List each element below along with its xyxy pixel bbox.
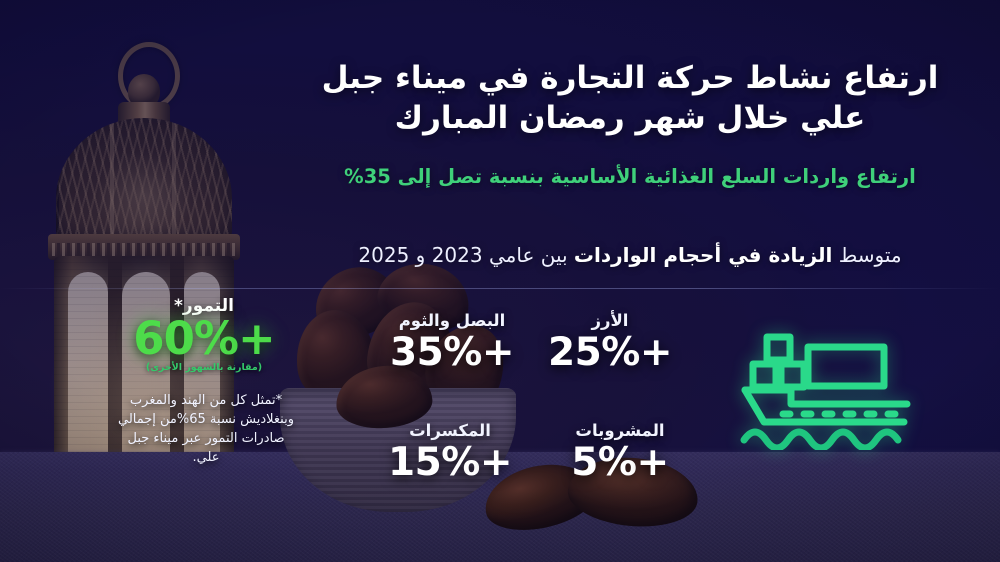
stat-onion-garlic: البصل والثوم +35%	[362, 312, 542, 374]
stat-rice: الأرز +25%	[530, 312, 690, 374]
title-line-2: علي خلال شهر رمضان المبارك	[300, 98, 960, 138]
featured-stat-dates: التمور* +60% (مقارنة بالشهور الأخرى)	[116, 296, 292, 373]
stat-label: المكسرات	[360, 422, 540, 441]
footnote-text: *تمثل كل من الهند والمغرب وبنغلاديش نسبة…	[118, 392, 294, 468]
title-line-1: ارتفاع نشاط حركة التجارة في ميناء جبل	[300, 58, 960, 98]
featured-stat-value: +60%	[116, 316, 292, 361]
average-caption-emphasis: الزيادة في أحجام الواردات	[574, 243, 832, 267]
stat-value: +25%	[530, 333, 690, 374]
average-increase-caption: متوسط الزيادة في أحجام الواردات بين عامي…	[300, 242, 960, 268]
stat-value: +15%	[360, 443, 540, 484]
average-caption-prefix: متوسط	[832, 243, 901, 267]
stat-value: +35%	[362, 333, 542, 374]
page-title: ارتفاع نشاط حركة التجارة في ميناء جبل عل…	[300, 58, 960, 139]
section-divider	[0, 288, 1000, 289]
page-subtitle: ارتفاع واردات السلع الغذائية الأساسية بن…	[300, 164, 960, 190]
stat-value: +5%	[540, 443, 700, 484]
average-caption-suffix: بين عامي 2023 و 2025	[358, 243, 574, 267]
stat-label: الأرز	[530, 312, 690, 331]
cargo-ship-icon	[736, 328, 922, 450]
stat-label: المشروبات	[540, 422, 700, 441]
infographic-root: ارتفاع نشاط حركة التجارة في ميناء جبل عل…	[0, 0, 1000, 562]
stat-beverages: المشروبات +5%	[540, 422, 700, 484]
stat-nuts: المكسرات +15%	[360, 422, 540, 484]
stat-label: البصل والثوم	[362, 312, 542, 331]
